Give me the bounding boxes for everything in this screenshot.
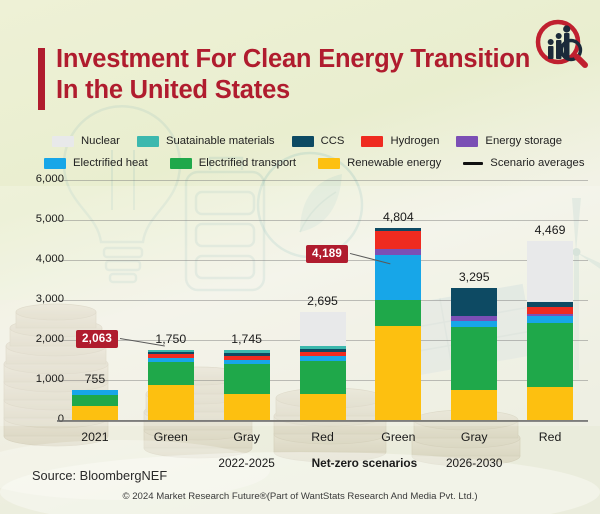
legend-item-electrified-transport[interactable]: Electrified transport [170,157,296,169]
legend-label: Nuclear [81,135,120,147]
x-axis-tick-2: Gray [204,430,290,444]
bar-segment-electrified-transport [72,395,118,406]
legend-label: CCS [321,135,345,147]
bar-segment-renewable-energy [300,394,346,420]
legend-swatch-nuclear-icon [52,136,74,147]
bar-segment-renewable-energy [148,385,194,420]
legend-row-1: NuclearSuatainable materialsCCSHydrogenE… [0,130,600,152]
bar-total-label: 4,804 [355,210,441,224]
legend-label: Energy storage [485,135,562,147]
x-axis-tick-3: Red [280,430,366,444]
bar-2021-0[interactable] [72,390,118,420]
legend-item-energy-storage[interactable]: Energy storage [456,135,562,147]
legend-swatch-electrified-heat-icon [44,158,66,169]
y-axis-tick-label: 5,000 [12,213,64,225]
bar-segment-electrified-transport [300,361,346,393]
x-axis-group-label-0: 2022-2025 [182,456,312,470]
x-axis-group-label-2: 2026-2030 [409,456,539,470]
legend-swatch-ccs-icon [292,136,314,147]
chart-plot-area: 01,0002,0003,0004,0005,0006,000 7551,750… [0,180,600,420]
bar-gray-5[interactable] [451,288,497,420]
legend-label: Electrified transport [199,157,296,169]
x-axis-tick-5: Gray [431,430,517,444]
page-title: Investment For Clean Energy Transition I… [56,44,536,106]
legend-label: Scenario averages [490,157,584,169]
magnifier-bar-chart-logo-icon [532,16,588,68]
x-axis-tick-6: Red [507,430,593,444]
bar-segment-ccs [451,288,497,315]
bar-total-label: 3,295 [431,270,517,284]
bar-segment-electrified-transport [527,323,573,387]
bar-segment-hydrogen [375,231,421,249]
bar-segment-nuclear [527,241,573,302]
y-axis-tick-label: 6,000 [12,173,64,185]
bar-green-1[interactable] [148,350,194,420]
legend-swatch-sustainable-materials-icon [137,136,159,147]
legend-swatch-electrified-transport-icon [170,158,192,169]
bar-segment-electrified-transport [375,300,421,326]
legend-item-renewable-energy[interactable]: Renewable energy [318,157,441,169]
y-axis-tick-label: 4,000 [12,253,64,265]
bar-segment-renewable-energy [375,326,421,420]
legend-item-scenario-average-line[interactable]: Scenario averages [463,157,584,169]
bar-segment-renewable-energy [72,406,118,420]
legend-label: Renewable energy [347,157,441,169]
title-accent-bar [38,48,45,110]
header: Investment For Clean Energy Transition I… [0,0,600,128]
legend-swatch-energy-storage-icon [456,136,478,147]
legend-item-hydrogen[interactable]: Hydrogen [361,135,439,147]
bar-gray-2[interactable] [224,350,270,420]
chart-legend: NuclearSuatainable materialsCCSHydrogenE… [0,130,600,174]
bar-segment-electrified-transport [148,362,194,384]
y-axis-tick-label: 2,000 [12,333,64,345]
legend-item-electrified-heat[interactable]: Electrified heat [44,157,148,169]
source-note: Source: BloombergNEF [32,468,167,483]
x-axis-tick-0: 2021 [52,430,138,444]
legend-swatch-hydrogen-icon [361,136,383,147]
bar-segment-electrified-heat [527,316,573,323]
bar-segment-electrified-heat [375,255,421,300]
bar-total-label: 4,469 [507,223,593,237]
legend-item-ccs[interactable]: CCS [292,135,345,147]
legend-swatch-scenario-average-line-icon [463,162,483,165]
legend-row-2: Electrified heatElectrified transportRen… [0,152,600,174]
bar-segment-electrified-transport [451,327,497,390]
bar-red-6[interactable] [527,241,573,420]
bar-total-label: 2,695 [280,294,366,308]
legend-item-sustainable-materials[interactable]: Suatainable materials [137,135,275,147]
bar-total-label: 755 [52,372,138,386]
x-axis-tick-1: Green [128,430,214,444]
bar-total-label: 1,750 [128,332,214,346]
legend-label: Electrified heat [73,157,148,169]
copyright-text: © 2024 Market Research Future®(Part of W… [122,491,477,502]
bar-segment-electrified-transport [224,364,270,394]
copyright-note: © 2024 Market Research Future®(Part of W… [0,491,600,502]
bar-green-4[interactable] [375,228,421,420]
x-axis-tick-4: Green [355,430,441,444]
gridline [57,220,588,221]
bar-segment-renewable-energy [224,394,270,420]
bar-segment-renewable-energy [527,387,573,420]
bar-segment-renewable-energy [451,390,497,420]
legend-label: Hydrogen [390,135,439,147]
y-axis-tick-label: 3,000 [12,293,64,305]
bar-total-label: 1,745 [204,332,290,346]
bar-red-3[interactable] [300,312,346,420]
bar-segment-nuclear [300,312,346,346]
legend-label: Suatainable materials [166,135,275,147]
legend-swatch-renewable-energy-icon [318,158,340,169]
legend-item-nuclear[interactable]: Nuclear [52,135,120,147]
gridline [57,180,588,181]
scenario-average-badge: 2,063 [76,330,118,348]
scenario-average-badge: 4,189 [306,245,348,263]
